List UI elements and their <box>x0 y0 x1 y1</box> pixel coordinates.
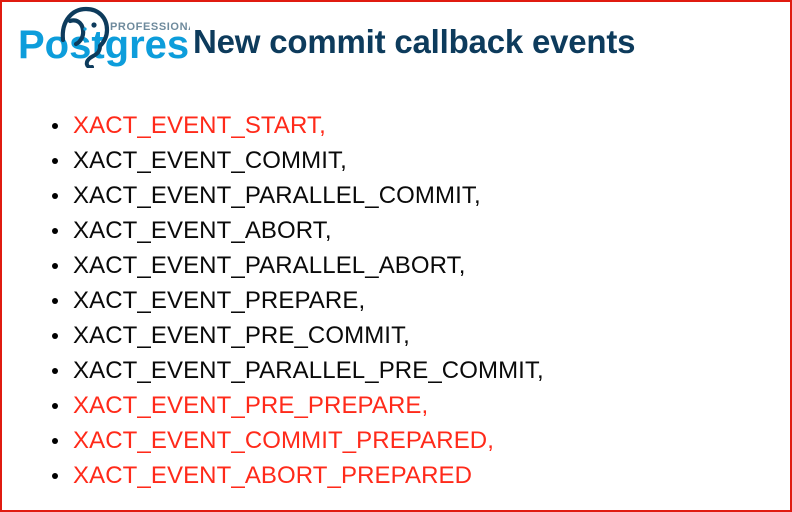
list-item: XACT_EVENT_COMMIT_PREPARED, <box>46 423 776 458</box>
list-item: XACT_EVENT_PARALLEL_COMMIT, <box>46 178 776 213</box>
event-name: XACT_EVENT_PARALLEL_PRE_COMMIT, <box>73 353 544 388</box>
event-name: XACT_EVENT_PRE_PREPARE, <box>73 388 428 423</box>
event-name: XACT_EVENT_COMMIT_PREPARED, <box>73 423 494 458</box>
event-name: XACT_EVENT_PREPARE, <box>73 283 365 318</box>
bullet-point-icon <box>52 368 58 374</box>
bullet-point-icon <box>52 228 58 234</box>
list-item: XACT_EVENT_START, <box>46 108 776 143</box>
event-name: XACT_EVENT_ABORT_PREPARED <box>73 458 472 493</box>
list-item: XACT_EVENT_COMMIT, <box>46 143 776 178</box>
event-name: XACT_EVENT_PRE_COMMIT, <box>73 318 410 353</box>
elephant-accent-dot-icon <box>83 27 86 30</box>
list-item: XACT_EVENT_PARALLEL_ABORT, <box>46 248 776 283</box>
elephant-eye-icon <box>91 22 96 27</box>
bullet-point-icon <box>52 473 58 479</box>
bullet-point-icon <box>52 438 58 444</box>
presentation-slide: Postgres PROFESSIONAL New commit ca <box>0 0 792 512</box>
bullet-point-icon <box>52 403 58 409</box>
bullet-point-icon <box>52 193 58 199</box>
list-item: XACT_EVENT_PARALLEL_PRE_COMMIT, <box>46 353 776 388</box>
logo-svg: Postgres PROFESSIONAL <box>18 6 190 68</box>
event-name: XACT_EVENT_PARALLEL_ABORT, <box>73 248 466 283</box>
event-list: XACT_EVENT_START, XACT_EVENT_COMMIT, XAC… <box>46 108 776 493</box>
event-name: XACT_EVENT_PARALLEL_COMMIT, <box>73 178 481 213</box>
slide-title: New commit callback events <box>193 23 635 61</box>
list-item: XACT_EVENT_PRE_COMMIT, <box>46 318 776 353</box>
list-item: XACT_EVENT_ABORT_PREPARED <box>46 458 776 493</box>
bullet-point-icon <box>52 263 58 269</box>
event-name: XACT_EVENT_START, <box>73 108 326 143</box>
slide-header: Postgres PROFESSIONAL New commit ca <box>2 2 792 82</box>
list-item: XACT_EVENT_ABORT, <box>46 213 776 248</box>
bullet-point-icon <box>52 298 58 304</box>
event-name: XACT_EVENT_ABORT, <box>73 213 332 248</box>
bullet-point-icon <box>52 158 58 164</box>
event-name: XACT_EVENT_COMMIT, <box>73 143 347 178</box>
bullet-point-icon <box>52 123 58 129</box>
bullet-point-icon <box>52 333 58 339</box>
list-item: XACT_EVENT_PREPARE, <box>46 283 776 318</box>
logo-tagline: PROFESSIONAL <box>110 21 190 33</box>
list-item: XACT_EVENT_PRE_PREPARE, <box>46 388 776 423</box>
postgres-professional-logo: Postgres PROFESSIONAL <box>18 6 190 68</box>
